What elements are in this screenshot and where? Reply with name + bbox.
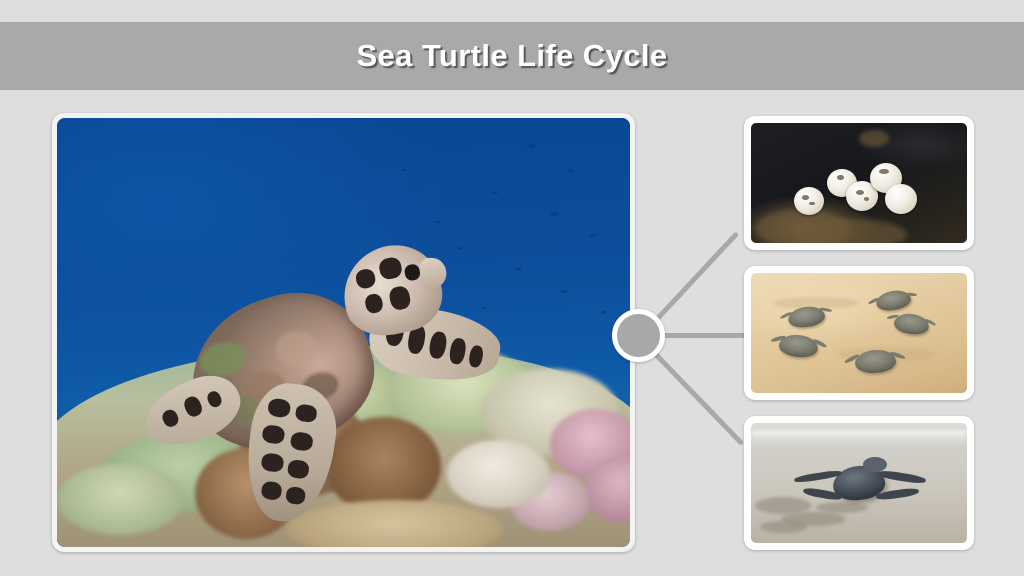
head-scute bbox=[354, 267, 377, 290]
surf-line bbox=[751, 430, 967, 437]
reef-green-coral bbox=[57, 464, 183, 535]
turtle-hatchling bbox=[854, 348, 897, 374]
adult-sea-turtle-photo bbox=[57, 118, 630, 547]
flipper-scute bbox=[468, 344, 485, 368]
flipper-scute bbox=[205, 389, 224, 410]
flipper-scute bbox=[159, 407, 180, 429]
turtle-hatchling bbox=[875, 288, 912, 313]
flipper-scute bbox=[286, 487, 307, 506]
egg-speck bbox=[802, 195, 809, 200]
flipper-scute bbox=[288, 459, 311, 480]
egg-speck bbox=[864, 197, 869, 201]
turtle-eggs-photo bbox=[751, 123, 967, 243]
flipper-scute bbox=[182, 394, 204, 419]
connector-hub-to-hatchlings bbox=[660, 333, 752, 338]
flipper-scute bbox=[261, 425, 285, 446]
connector-hub-to-crawl bbox=[650, 349, 744, 446]
hatchling-head bbox=[863, 457, 887, 473]
head-scute bbox=[363, 292, 384, 315]
sand-track bbox=[760, 521, 808, 533]
surf-line bbox=[751, 439, 967, 443]
life-cycle-hub-node[interactable] bbox=[612, 309, 665, 362]
carapace-marking bbox=[195, 336, 250, 381]
turtle-hatchling bbox=[786, 304, 825, 329]
distant-fish-icon bbox=[561, 290, 567, 293]
flipper-scute bbox=[428, 330, 448, 360]
page-title: Sea Turtle Life Cycle bbox=[356, 38, 667, 74]
flipper-scute bbox=[449, 337, 468, 365]
egg-speck bbox=[809, 202, 814, 206]
head-scute bbox=[378, 256, 403, 281]
turtle-hatchling bbox=[892, 311, 929, 336]
adult-turtle-figure bbox=[183, 238, 510, 504]
thumbnail-eggs[interactable] bbox=[744, 116, 974, 250]
egg-speck bbox=[856, 190, 864, 195]
turtle-beak bbox=[419, 258, 447, 289]
distant-fish-icon bbox=[590, 234, 596, 237]
sand-grit bbox=[794, 219, 906, 243]
egg-speck bbox=[879, 169, 889, 174]
distant-fish-icon bbox=[527, 144, 536, 148]
thumbnail-hatchlings[interactable] bbox=[744, 266, 974, 400]
hatchling-crawl-photo bbox=[751, 423, 967, 543]
sand-grit bbox=[859, 130, 889, 147]
carapace-marking bbox=[271, 326, 320, 371]
head-scute bbox=[388, 285, 412, 311]
egg-speck bbox=[837, 175, 844, 180]
flipper-scute bbox=[295, 404, 317, 423]
turtle-hatchling bbox=[778, 333, 819, 359]
connector-hub-to-eggs bbox=[650, 231, 739, 326]
flipper-scute bbox=[261, 480, 284, 501]
sand-track bbox=[816, 502, 868, 513]
flipper-scute bbox=[261, 452, 285, 473]
flipper-scute bbox=[267, 397, 291, 418]
turtle-hatchlings-photo bbox=[751, 273, 967, 393]
thumbnail-hatchling-crawl[interactable] bbox=[744, 416, 974, 550]
hatchling-flipper bbox=[906, 292, 918, 296]
hero-image-frame[interactable] bbox=[52, 113, 635, 552]
flipper-scute bbox=[290, 431, 314, 452]
hatchling-right-flipper bbox=[878, 470, 926, 486]
title-banner: Sea Turtle Life Cycle bbox=[0, 22, 1024, 90]
slide-canvas: Sea Turtle Life Cycle bbox=[0, 0, 1024, 576]
turtle-egg bbox=[885, 184, 917, 214]
